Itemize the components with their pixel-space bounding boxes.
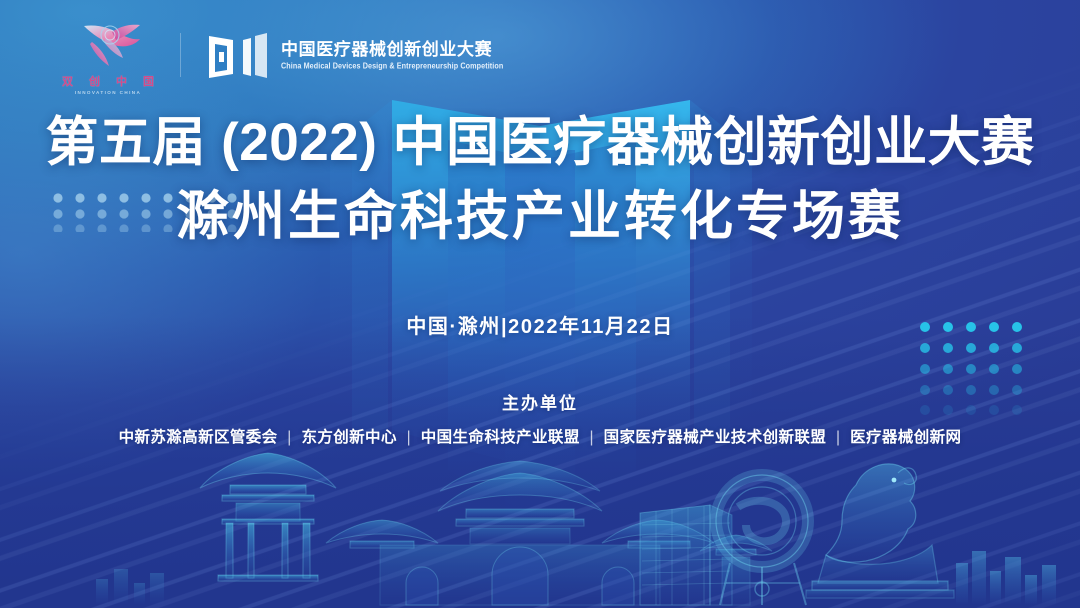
city-skyline-icon	[956, 551, 1056, 605]
organizer-item-3: 国家医疗器械产业技术创新联盟	[604, 429, 827, 446]
organizers-list: 中新苏滁高新区管委会 | 东方创新中心 | 中国生命科技产业联盟 | 国家医疗器…	[0, 425, 1080, 447]
open-door-mark-icon	[207, 30, 269, 80]
logo-bar: 双 创 中 国 INNOVATION CHINA 中国医疗器械创新创业大赛 Ch	[62, 22, 503, 88]
organizer-separator-3: |	[831, 429, 845, 446]
bird-logo-icon	[76, 22, 142, 68]
innovation-china-logo: 双 创 中 国 INNOVATION CHINA	[62, 22, 154, 88]
logo-char-1: 创	[89, 77, 100, 88]
competition-logo-en: China Medical Devices Design & Entrepren…	[281, 60, 503, 70]
location-date-text: 中国·滁州|2022年11月22日	[0, 310, 1080, 339]
skyline-illustration	[0, 433, 1080, 608]
logo-char-3: 国	[143, 77, 154, 88]
poster-title-line1: 第五届 (2022) 中国医疗器械创新创业大赛	[0, 112, 1080, 174]
merlion-statue-icon	[806, 464, 954, 598]
competition-logo-cn: 中国医疗器械创新创业大赛	[281, 40, 503, 59]
chinese-pavilion-icon	[200, 453, 336, 581]
competition-logo: 中国医疗器械创新创业大赛 China Medical Devices Desig…	[207, 30, 503, 80]
organizer-separator-0: |	[282, 429, 296, 446]
organizers-label: 主办单位	[0, 389, 1080, 414]
city-skyline-left-icon	[96, 569, 164, 605]
organizer-item-2: 中国生命科技产业联盟	[421, 429, 580, 446]
logo-char-0: 双	[62, 77, 73, 88]
organizer-item-1: 东方创新中心	[301, 429, 396, 446]
innovation-china-cn-chars: 双 创 中 国	[62, 77, 154, 88]
logo-divider	[180, 33, 181, 77]
organizer-separator-2: |	[584, 429, 598, 446]
organizer-item-0: 中新苏滁高新区管委会	[119, 429, 278, 446]
poster-title-line2: 滁州生命科技产业转化专场赛	[0, 186, 1080, 248]
poster-canvas: 双 创 中 国 INNOVATION CHINA 中国医疗器械创新创业大赛 Ch	[0, 0, 1080, 608]
headline-block: 第五届 (2022) 中国医疗器械创新创业大赛 滁州生命科技产业转化专场赛	[0, 112, 1080, 248]
organizer-item-4: 医疗器械创新网	[850, 429, 961, 446]
logo-char-2: 中	[116, 77, 127, 88]
organizer-separator-1: |	[402, 429, 416, 446]
innovation-china-en-text: INNOVATION CHINA	[62, 90, 154, 95]
